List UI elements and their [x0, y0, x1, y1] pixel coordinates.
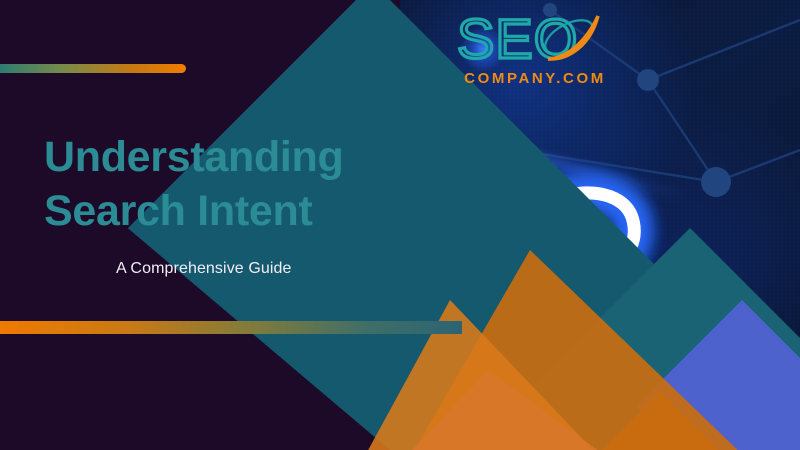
- brand-logo[interactable]: SEO COMPANY.COM: [455, 8, 615, 104]
- page-subtitle: A Comprehensive Guide: [116, 260, 424, 278]
- seo-orbit-icon: SEO: [455, 8, 615, 70]
- page-title: Understanding Search Intent: [44, 130, 424, 238]
- gradient-rule-bottom: [0, 321, 462, 334]
- logo-wordmark: COMPANY.COM: [455, 70, 615, 87]
- svg-text:SEO: SEO: [457, 8, 578, 70]
- seo-title-slide: ✦ ✦ SEO COMPANY.COM Understanding Search…: [0, 0, 800, 450]
- hero-copy: Understanding Search Intent A Comprehens…: [44, 130, 424, 278]
- gradient-rule-top: [0, 64, 186, 73]
